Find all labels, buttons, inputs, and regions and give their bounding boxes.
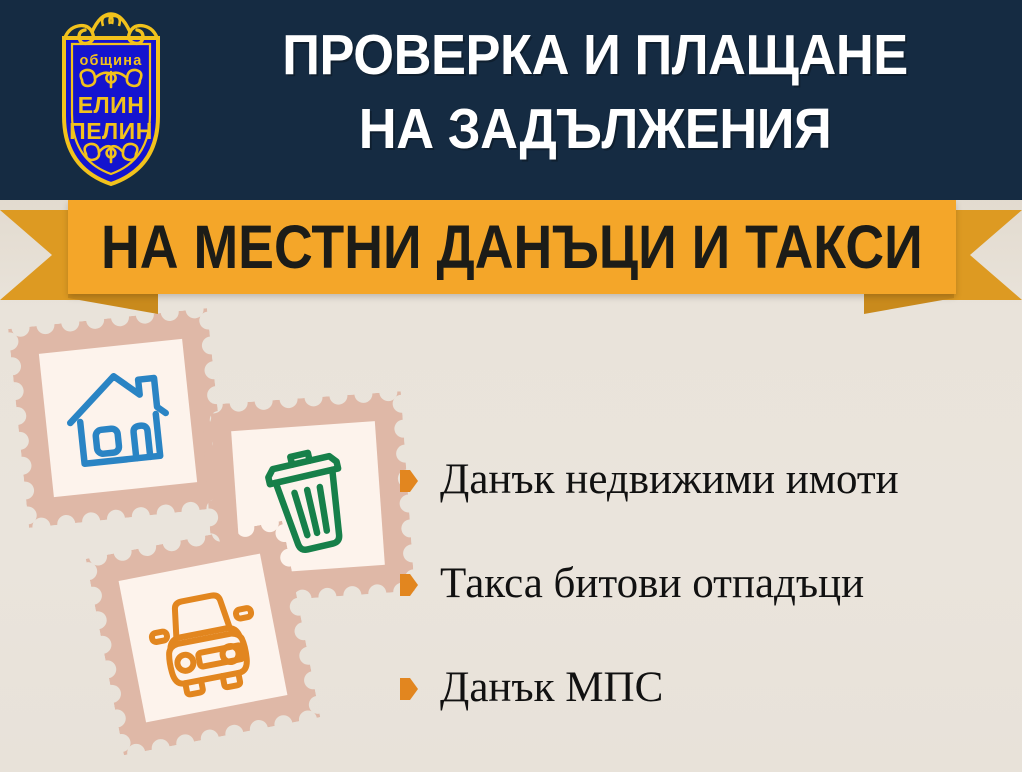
list-item[interactable]: Такса битови отпадъци — [400, 532, 1010, 636]
logo-line-top: община — [80, 53, 143, 69]
list-item-label: Такса битови отпадъци — [440, 560, 864, 608]
header-bar: община ЕЛИН ПЕЛИН ПРОВЕРКА И ПЛАЩАНЕ НА … — [0, 0, 1022, 200]
arrow-bullet-icon — [400, 574, 418, 596]
logo-line-mid: ЕЛИН — [78, 92, 145, 118]
tax-types-list: Данък недвижими имоти Такса битови отпад… — [400, 428, 1010, 740]
logo-line-bottom: ПЕЛИН — [69, 118, 153, 144]
ribbon-label: НА МЕСТНИ ДАНЪЦИ И ТАКСИ — [101, 217, 923, 278]
ribbon-band: НА МЕСТНИ ДАНЪЦИ И ТАКСИ — [68, 200, 956, 294]
arrow-bullet-icon — [400, 470, 418, 492]
stamp-card-car — [86, 521, 320, 755]
list-item-label: Данък недвижими имоти — [440, 456, 899, 504]
stamp-frame-car — [86, 521, 320, 755]
poster-root: община ЕЛИН ПЕЛИН ПРОВЕРКА И ПЛАЩАНЕ НА … — [0, 0, 1022, 772]
stamp-card-house — [8, 308, 228, 528]
page-title: ПРОВЕРКА И ПЛАЩАНЕ НА ЗАДЪЛЖЕНИЯ — [218, 18, 972, 166]
subtitle-ribbon: НА МЕСТНИ ДАНЪЦИ И ТАКСИ — [0, 196, 1022, 314]
arrow-bullet-icon — [400, 678, 418, 700]
municipality-logo: община ЕЛИН ПЕЛИН — [44, 8, 178, 188]
list-item-label: Данък МПС — [440, 664, 663, 712]
stamp-frame-house — [8, 308, 228, 528]
list-item[interactable]: Данък МПС — [400, 636, 1010, 740]
list-item[interactable]: Данък недвижими имоти — [400, 428, 1010, 532]
